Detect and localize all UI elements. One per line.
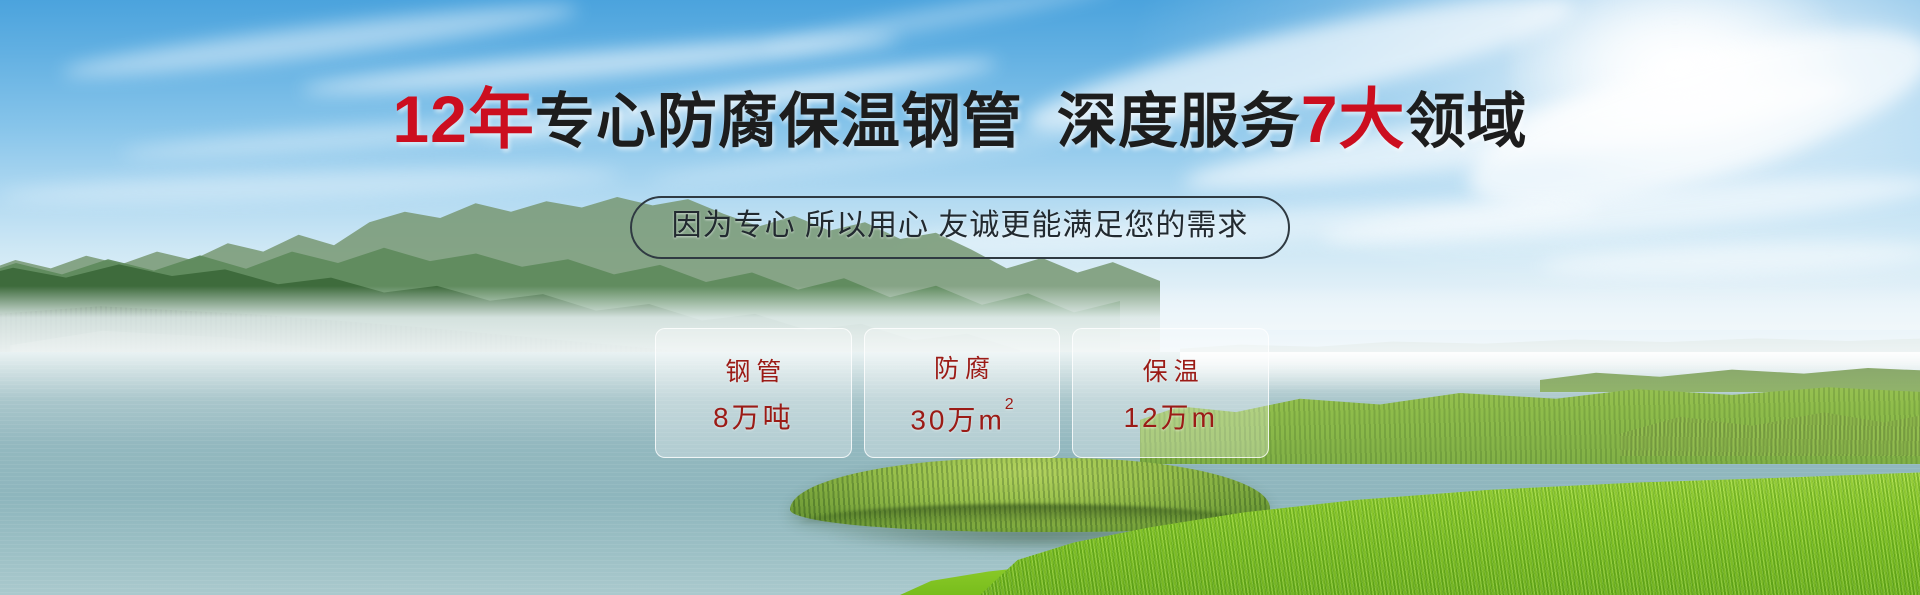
banner-content: 12年专心防腐保温钢管深度服务7大领域 因为专心 所以用心 友诚更能满足您的需求… xyxy=(0,0,1920,595)
stat-value-text: 12万m xyxy=(1123,402,1217,433)
stat-value-text: 30万m xyxy=(910,405,1004,436)
stat-label: 防腐 xyxy=(928,352,996,386)
stat-card-steel-pipe[interactable]: 钢管 8万吨 xyxy=(655,328,852,458)
headline-segment-service: 深度服务 xyxy=(1057,88,1301,155)
banner-subtitle-wrapper: 因为专心 所以用心 友诚更能满足您的需求 xyxy=(0,196,1920,259)
banner-headline: 12年专心防腐保温钢管深度服务7大领域 xyxy=(0,88,1920,153)
stat-card-anticorrosion[interactable]: 防腐 30万m2 xyxy=(864,328,1061,458)
stat-card-insulation[interactable]: 保温 12万m xyxy=(1072,328,1269,458)
stat-label: 钢管 xyxy=(719,355,787,389)
headline-segment-fields: 领域 xyxy=(1406,88,1528,155)
stat-value: 8万吨 xyxy=(713,401,794,435)
stat-value-text: 8万吨 xyxy=(713,402,794,433)
headline-segment-focus: 专心防腐保温钢管 xyxy=(535,88,1023,155)
hero-banner: 12年专心防腐保温钢管深度服务7大领域 因为专心 所以用心 友诚更能满足您的需求… xyxy=(0,0,1920,595)
stat-label: 保温 xyxy=(1137,355,1205,389)
banner-subtitle-pill: 因为专心 所以用心 友诚更能满足您的需求 xyxy=(630,196,1291,259)
headline-segment-seven: 7大 xyxy=(1301,82,1406,156)
stat-value-superscript: 2 xyxy=(1005,396,1014,413)
stat-value: 12万m xyxy=(1123,401,1217,435)
headline-segment-years: 12年 xyxy=(392,82,534,156)
stat-value: 30万m2 xyxy=(910,398,1013,437)
stat-card-group: 钢管 8万吨 防腐 30万m2 保温 12万m xyxy=(655,328,1269,458)
